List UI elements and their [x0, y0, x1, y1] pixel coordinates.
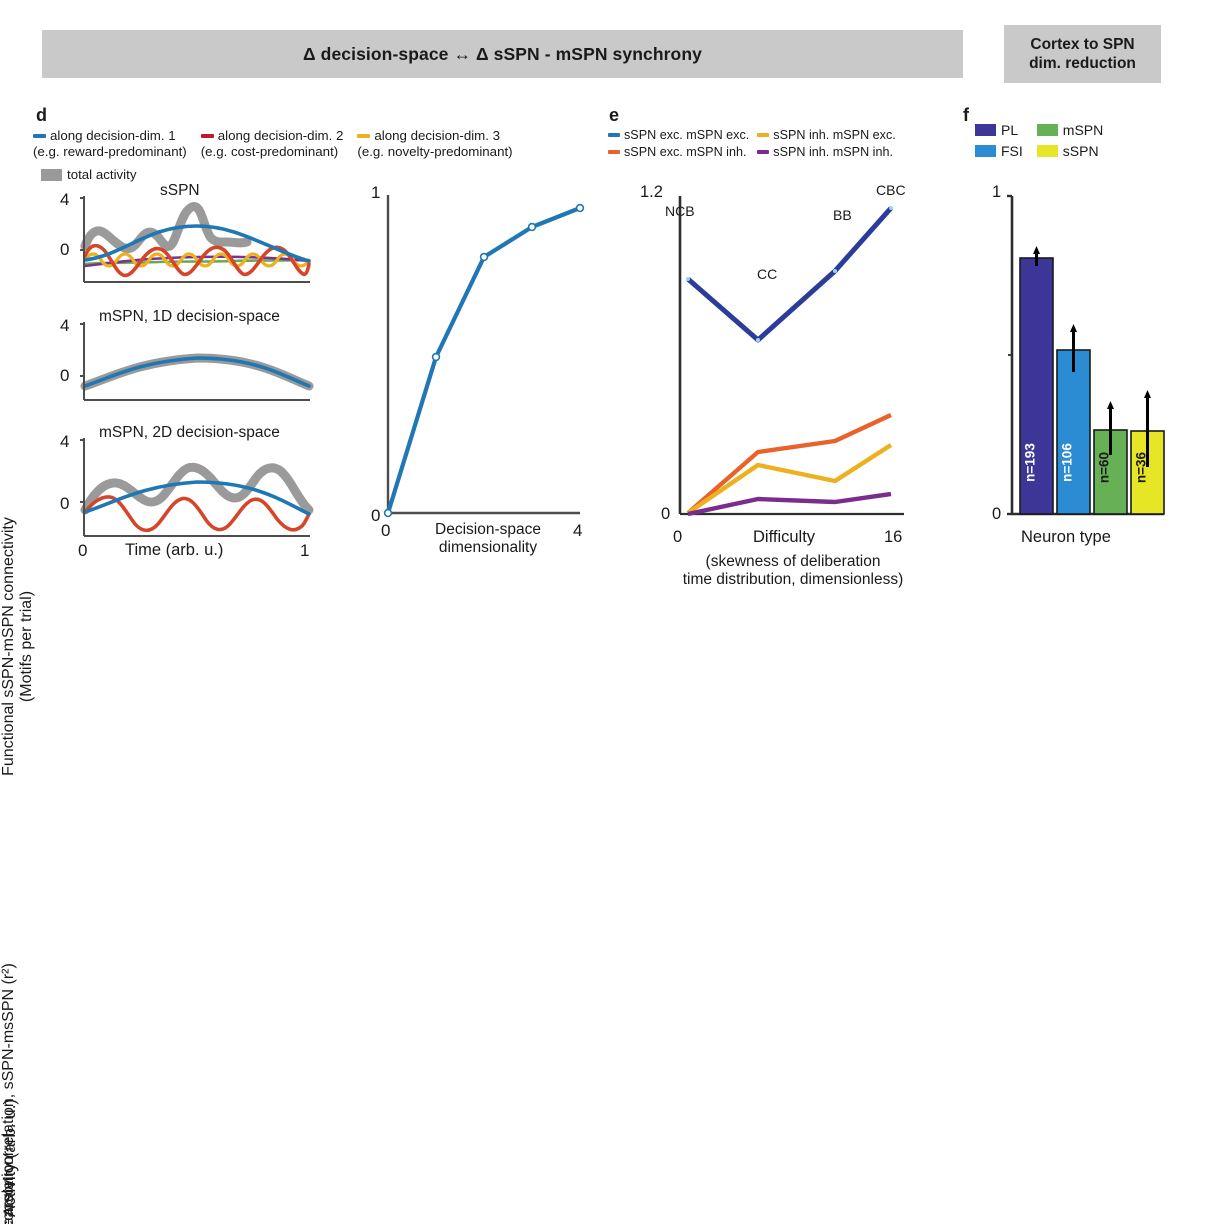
- data-line-inh-inh: [688, 494, 891, 514]
- legend-item-exc-inh: sSPN exc. mSPN inh.: [608, 145, 749, 159]
- legend-label: sSPN exc. mSPN inh.: [624, 145, 746, 159]
- panel-letter-e: e: [609, 105, 619, 126]
- panel-e-y-axis-label-line2: (Motifs per trial): [18, 38, 36, 1224]
- panel-f-y-axis-label: Effective correlation: [0, 75, 18, 1224]
- legend-label: along decision-dim. 3: [374, 128, 500, 143]
- subplot-sspn: [84, 198, 310, 298]
- panel-e-x-axis-sublabel-line1: (skewness of deliberation: [643, 553, 943, 571]
- legend-panel-f: PL mSPN FSI sSPN: [975, 122, 1103, 159]
- line-swatch-icon: [757, 150, 769, 154]
- panel-f-x-axis-label: Neuron type: [1021, 528, 1111, 547]
- line-swatch-icon: [757, 133, 769, 137]
- color-swatch-icon: [1037, 145, 1058, 157]
- xtick-e-16: 16: [884, 528, 902, 547]
- legend-label: mSPN: [1063, 122, 1103, 138]
- legend-label: PL: [1001, 122, 1018, 138]
- legend-panel-e: sSPN exc. mSPN exc. sSPN inh. mSPN exc. …: [608, 128, 896, 159]
- pearson-x-axis-label-line2: dimensionality: [403, 539, 573, 557]
- line-swatch-icon: [608, 133, 620, 137]
- ytick-mspn1d-0: 0: [60, 366, 69, 386]
- line-swatch-icon: [357, 134, 370, 138]
- xtick-corr-0: 0: [381, 521, 390, 541]
- bar-label-fsi-n: n=106: [1060, 433, 1075, 493]
- legend-sublabel: (e.g. cost-predominant): [201, 144, 344, 159]
- ytick-mspn1d-4: 4: [60, 316, 69, 336]
- color-swatch-icon: [975, 124, 996, 136]
- legend-label: total activity: [67, 167, 136, 182]
- legend-item-mspn: mSPN: [1037, 122, 1103, 138]
- ytick-mspn2d-4: 4: [60, 432, 69, 452]
- banner-main-title: Δ decision-space ↔ Δ sSPN - mSPN synchro…: [42, 30, 963, 78]
- band-swatch-icon: [41, 169, 62, 181]
- legend-label: sSPN inh. mSPN inh.: [773, 145, 893, 159]
- legend-label: sSPN exc. mSPN exc.: [624, 128, 749, 142]
- subplot-mspn-2d: [84, 440, 310, 550]
- legend-item-exc-exc: sSPN exc. mSPN exc.: [608, 128, 749, 142]
- legend-label: along decision-dim. 1: [50, 128, 176, 143]
- ytick-sspn-4: 4: [60, 190, 69, 210]
- banner-side-line1: Cortex to SPN: [1030, 35, 1134, 54]
- bar-label-sspn-n: n=36: [1134, 443, 1149, 493]
- line-swatch-icon: [201, 134, 214, 138]
- ytick-mspn2d-0: 0: [60, 494, 69, 514]
- ytick-f-0: 0: [992, 505, 1001, 524]
- pearson-x-axis-label: Decision-space dimensionality: [403, 521, 573, 558]
- xtick-d-0: 0: [78, 541, 87, 561]
- xtick-d-1: 1: [300, 541, 309, 561]
- color-swatch-icon: [1037, 124, 1058, 136]
- legend-label: along decision-dim. 2: [218, 128, 344, 143]
- ytick-corr-1: 1: [371, 183, 380, 203]
- bar-label-mspn-n: n=60: [1097, 443, 1112, 493]
- ytick-sspn-0: 0: [60, 240, 69, 260]
- legend-label: sSPN inh. mSPN exc.: [773, 128, 895, 142]
- trace-dim2: [85, 497, 309, 530]
- legend-label: sSPN: [1063, 143, 1099, 159]
- line-swatch-icon: [608, 150, 620, 154]
- panel-e-x-axis-label: Difficulty: [753, 528, 815, 547]
- xtick-e-0: 0: [673, 528, 682, 547]
- legend-item-dim2: along decision-dim. 2 (e.g. cost-predomi…: [201, 128, 344, 159]
- panel-e-x-axis-sublabel-line2: time distribution, dimensionless): [643, 571, 943, 589]
- bar-label-pl-n: n=193: [1023, 433, 1038, 493]
- banner-main-text: Δ decision-space ↔ Δ sSPN - mSPN synchro…: [303, 44, 702, 65]
- banner-side-title: Cortex to SPN dim. reduction: [1004, 25, 1161, 83]
- legend-panel-d: along decision-dim. 1 (e.g. reward-predo…: [33, 128, 603, 182]
- legend-sublabel: (e.g. reward-predominant): [33, 144, 187, 159]
- plot-pearson-correlation: [388, 195, 582, 525]
- legend-item-inh-exc: sSPN inh. mSPN exc.: [757, 128, 895, 142]
- plot-panel-e-connectivity: [680, 196, 906, 526]
- legend-item-dim1: along decision-dim. 1 (e.g. reward-predo…: [33, 128, 187, 159]
- legend-sublabel: (e.g. novelty-predominant): [357, 144, 512, 159]
- data-line-exc-exc: [688, 208, 891, 340]
- ytick-corr-0: 0: [371, 506, 380, 526]
- panel-letter-d: d: [36, 105, 47, 126]
- panel-e-x-axis-sublabel: (skewness of deliberation time distribut…: [643, 553, 943, 590]
- panel-d-x-axis-label: Time (arb. u.): [125, 541, 223, 560]
- ytick-e-max: 1.2: [640, 183, 663, 202]
- panel-letter-f: f: [963, 105, 969, 126]
- legend-item-fsi: FSI: [975, 143, 1023, 159]
- legend-label: FSI: [1001, 143, 1023, 159]
- legend-item-sspn: sSPN: [1037, 143, 1103, 159]
- data-markers-pearson: [385, 205, 584, 517]
- legend-item-pl: PL: [975, 122, 1023, 138]
- pearson-x-axis-label-line1: Decision-space: [403, 521, 573, 539]
- color-swatch-icon: [975, 145, 996, 157]
- subplot-mspn-1d: [84, 324, 310, 424]
- data-markers-panel-e: [686, 206, 893, 342]
- data-line-inh-exc: [688, 445, 891, 513]
- legend-item-dim3: along decision-dim. 3 (e.g. novelty-pred…: [357, 128, 512, 159]
- ytick-f-1: 1: [992, 183, 1001, 202]
- xtick-corr-4: 4: [573, 521, 582, 541]
- legend-item-total-activity: total activity: [41, 167, 603, 182]
- banner-side-line2: dim. reduction: [1029, 54, 1136, 73]
- ytick-e-0: 0: [661, 505, 670, 524]
- legend-item-inh-inh: sSPN inh. mSPN inh.: [757, 145, 895, 159]
